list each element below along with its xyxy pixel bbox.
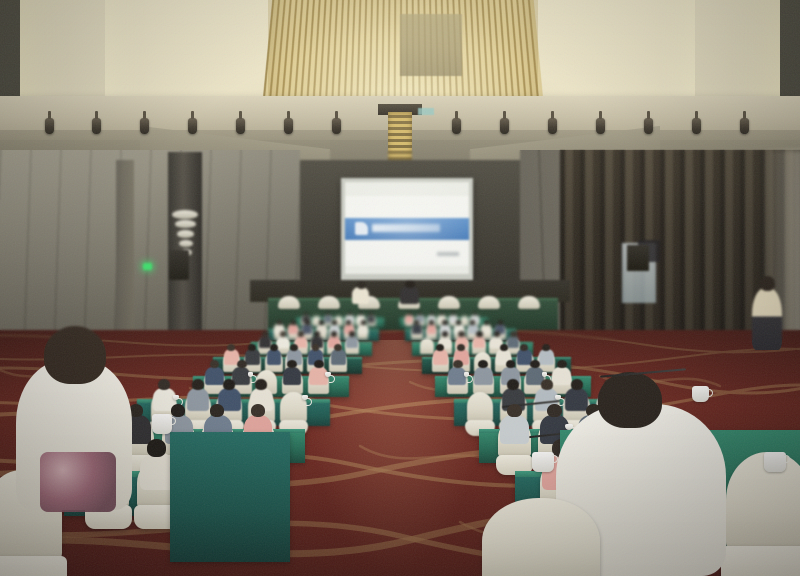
- photo-grain: [0, 0, 800, 576]
- conference-hall-photo: [0, 0, 800, 576]
